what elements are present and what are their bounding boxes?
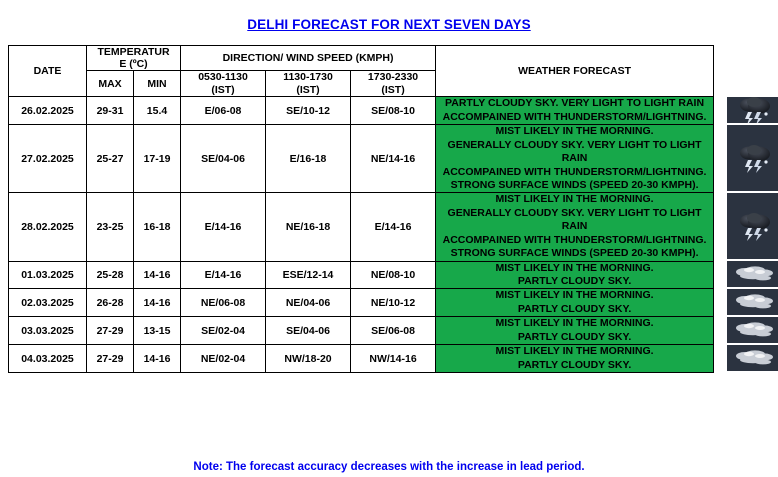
wind3-cell: SE/06-08 xyxy=(351,317,436,345)
forecast-line: PARTLY CLOUDY SKY. xyxy=(436,303,713,316)
forecast-line: GENERALLY CLOUDY SKY. VERY LIGHT TO LIGH… xyxy=(436,139,713,166)
thunderstorm-icon-svg xyxy=(735,209,775,243)
min-cell: 17-19 xyxy=(134,125,181,193)
thunderstorm-icon xyxy=(727,193,778,259)
wind2-cell: E/16-18 xyxy=(266,125,351,193)
max-cell: 27-29 xyxy=(87,317,134,345)
forecast-line: MIST LIKELY IN THE MORNING. xyxy=(436,262,713,275)
forecast-cell: MIST LIKELY IN THE MORNING.GENERALLY CLO… xyxy=(436,193,714,261)
header-slot1-line1: 0530-1130 xyxy=(181,71,265,84)
forecast-line: GENERALLY CLOUDY SKY. VERY LIGHT TO LIGH… xyxy=(436,207,713,234)
partly-cloudy-icon xyxy=(727,345,778,371)
forecast-line: PARTLY CLOUDY SKY. xyxy=(436,275,713,288)
partly-cloudy-icon xyxy=(727,289,778,315)
header-slot-0530-1130: 0530-1130 (IST) xyxy=(181,71,266,97)
header-slot3-line1: 1730-2330 xyxy=(351,71,435,84)
min-cell: 16-18 xyxy=(134,193,181,261)
forecast-line: PARTLY CLOUDY SKY. xyxy=(436,331,713,344)
wind2-cell: ESE/12-14 xyxy=(266,261,351,289)
wind2-cell: SE/10-12 xyxy=(266,97,351,125)
table-row: 04.03.202527-2914-16NE/02-04NW/18-20NW/1… xyxy=(9,345,714,373)
max-cell: 26-28 xyxy=(87,289,134,317)
forecast-line: PARTLY CLOUDY SKY. VERY LIGHT TO LIGHT R… xyxy=(436,97,713,110)
header-row-top: DATE TEMPERATUR E (ºC) DIRECTION/ WIND S… xyxy=(9,46,714,71)
forecast-cell: MIST LIKELY IN THE MORNING.PARTLY CLOUDY… xyxy=(436,345,714,373)
partly-cloudy-icon-svg xyxy=(733,345,777,371)
max-cell: 27-29 xyxy=(87,345,134,373)
forecast-cell: MIST LIKELY IN THE MORNING.GENERALLY CLO… xyxy=(436,125,714,193)
forecast-line: MIST LIKELY IN THE MORNING. xyxy=(436,317,713,330)
forecast-line: PARTLY CLOUDY SKY. xyxy=(436,359,713,372)
forecast-cell: PARTLY CLOUDY SKY. VERY LIGHT TO LIGHT R… xyxy=(436,97,714,125)
header-temperature: TEMPERATUR E (ºC) xyxy=(87,46,181,71)
thunderstorm-icon xyxy=(727,97,778,123)
forecast-line: STRONG SURFACE WINDS (SPEED 20-30 KMPH). xyxy=(436,247,713,260)
table-body: 26.02.202529-3115.4E/06-08SE/10-12SE/08-… xyxy=(9,97,714,373)
wind1-cell: E/14-16 xyxy=(181,193,266,261)
wind1-cell: E/06-08 xyxy=(181,97,266,125)
date-cell: 04.03.2025 xyxy=(9,345,87,373)
forecast-line: MIST LIKELY IN THE MORNING. xyxy=(436,289,713,302)
max-cell: 29-31 xyxy=(87,97,134,125)
forecast-line: MIST LIKELY IN THE MORNING. xyxy=(436,125,713,138)
table-row: 01.03.202525-2814-16E/14-16ESE/12-14NE/0… xyxy=(9,261,714,289)
forecast-line: STRONG SURFACE WINDS (SPEED 20-30 KMPH). xyxy=(436,179,713,192)
wind3-cell: NW/14-16 xyxy=(351,345,436,373)
min-cell: 13-15 xyxy=(134,317,181,345)
date-cell: 03.03.2025 xyxy=(9,317,87,345)
partly-cloudy-icon-svg xyxy=(733,317,777,343)
header-temperature-line2: E (ºC) xyxy=(87,58,180,70)
wind3-cell: NE/14-16 xyxy=(351,125,436,193)
date-cell: 28.02.2025 xyxy=(9,193,87,261)
forecast-cell: MIST LIKELY IN THE MORNING.PARTLY CLOUDY… xyxy=(436,289,714,317)
header-min: MIN xyxy=(134,71,181,97)
header-weather-forecast: WEATHER FORECAST xyxy=(436,46,714,97)
min-cell: 14-16 xyxy=(134,345,181,373)
weather-icon-strip xyxy=(727,97,778,371)
wind3-cell: SE/08-10 xyxy=(351,97,436,125)
min-cell: 14-16 xyxy=(134,289,181,317)
forecast-line: MIST LIKELY IN THE MORNING. xyxy=(436,193,713,206)
header-slot-1130-1730: 1130-1730 (IST) xyxy=(266,71,351,97)
partly-cloudy-icon-svg xyxy=(733,289,777,315)
forecast-cell: MIST LIKELY IN THE MORNING.PARTLY CLOUDY… xyxy=(436,317,714,345)
header-slot2-line2: (IST) xyxy=(266,84,350,97)
wind1-cell: NE/02-04 xyxy=(181,345,266,373)
date-cell: 27.02.2025 xyxy=(9,125,87,193)
table-header: DATE TEMPERATUR E (ºC) DIRECTION/ WIND S… xyxy=(9,46,714,97)
header-date: DATE xyxy=(9,46,87,97)
forecast-table-wrap: DATE TEMPERATUR E (ºC) DIRECTION/ WIND S… xyxy=(8,45,770,373)
table-row: 03.03.202527-2913-15SE/02-04SE/04-06SE/0… xyxy=(9,317,714,345)
max-cell: 23-25 xyxy=(87,193,134,261)
footer-note: Note: The forecast accuracy decreases wi… xyxy=(0,461,778,473)
header-slot3-line2: (IST) xyxy=(351,84,435,97)
forecast-line: MIST LIKELY IN THE MORNING. xyxy=(436,345,713,358)
forecast-table: DATE TEMPERATUR E (ºC) DIRECTION/ WIND S… xyxy=(8,45,714,373)
header-slot-1730-2330: 1730-2330 (IST) xyxy=(351,71,436,97)
thunderstorm-icon xyxy=(727,125,778,191)
table-row: 27.02.202525-2717-19SE/04-06E/16-18NE/14… xyxy=(9,125,714,193)
partly-cloudy-icon xyxy=(727,261,778,287)
header-max: MAX xyxy=(87,71,134,97)
wind3-cell: NE/10-12 xyxy=(351,289,436,317)
header-direction-wind: DIRECTION/ WIND SPEED (KMPH) xyxy=(181,46,436,71)
wind2-cell: NE/04-06 xyxy=(266,289,351,317)
header-slot2-line1: 1130-1730 xyxy=(266,71,350,84)
thunderstorm-icon-svg xyxy=(735,97,775,123)
wind2-cell: NE/16-18 xyxy=(266,193,351,261)
header-slot1-line2: (IST) xyxy=(181,84,265,97)
forecast-line: ACCOMPAINED WITH THUNDERSTORM/LIGHTNING. xyxy=(436,166,713,179)
forecast-line: ACCOMPAINED WITH THUNDERSTORM/LIGHTNING. xyxy=(436,234,713,247)
wind3-cell: E/14-16 xyxy=(351,193,436,261)
table-row: 02.03.202526-2814-16NE/06-08NE/04-06NE/1… xyxy=(9,289,714,317)
wind1-cell: E/14-16 xyxy=(181,261,266,289)
date-cell: 02.03.2025 xyxy=(9,289,87,317)
date-cell: 26.02.2025 xyxy=(9,97,87,125)
header-temperature-line1: TEMPERATUR xyxy=(87,46,180,58)
partly-cloudy-icon-svg xyxy=(733,261,777,287)
table-row: 28.02.202523-2516-18E/14-16NE/16-18E/14-… xyxy=(9,193,714,261)
wind2-cell: NW/18-20 xyxy=(266,345,351,373)
wind1-cell: NE/06-08 xyxy=(181,289,266,317)
wind1-cell: SE/04-06 xyxy=(181,125,266,193)
max-cell: 25-28 xyxy=(87,261,134,289)
partly-cloudy-icon xyxy=(727,317,778,343)
page-title: DELHI FORECAST FOR NEXT SEVEN DAYS xyxy=(0,0,778,32)
forecast-cell: MIST LIKELY IN THE MORNING.PARTLY CLOUDY… xyxy=(436,261,714,289)
wind1-cell: SE/02-04 xyxy=(181,317,266,345)
table-row: 26.02.202529-3115.4E/06-08SE/10-12SE/08-… xyxy=(9,97,714,125)
min-cell: 14-16 xyxy=(134,261,181,289)
min-cell: 15.4 xyxy=(134,97,181,125)
date-cell: 01.03.2025 xyxy=(9,261,87,289)
thunderstorm-icon-svg xyxy=(735,141,775,175)
max-cell: 25-27 xyxy=(87,125,134,193)
wind3-cell: NE/08-10 xyxy=(351,261,436,289)
wind2-cell: SE/04-06 xyxy=(266,317,351,345)
forecast-line: ACCOMPAINED WITH THUNDERSTORM/LIGHTNING. xyxy=(436,111,713,124)
